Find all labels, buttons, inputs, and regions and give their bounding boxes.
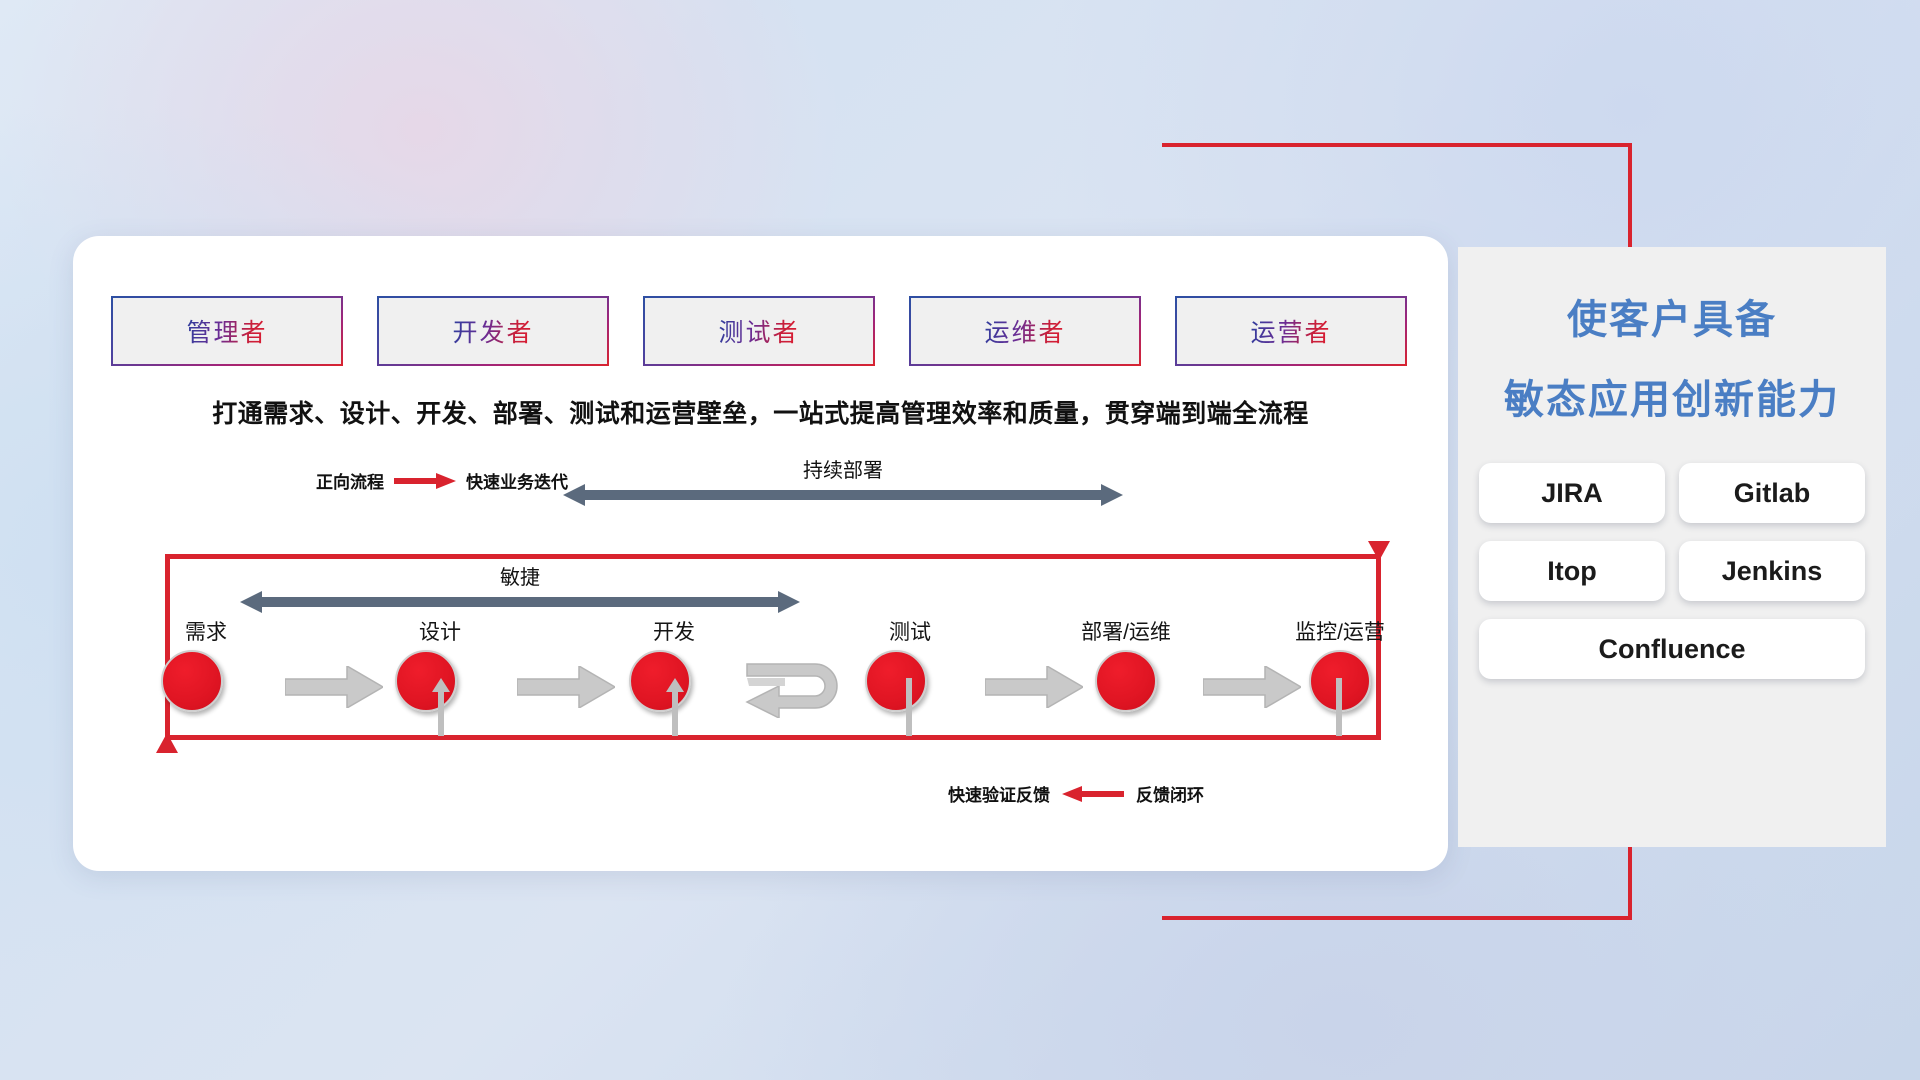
chevron-right-icon (517, 666, 615, 708)
right-panel-title-line1: 使客户具备 (1458, 287, 1886, 345)
role-box-operations[interactable]: 运营者 (1175, 296, 1407, 366)
pipeline-node-design[interactable]: 设计 (391, 616, 461, 712)
right-panel-title: 使客户具备 敏态应用创新能力 (1458, 287, 1886, 425)
legend-forward-right-label: 快速业务迭代 (466, 468, 568, 493)
right-tools-panel: 使客户具备 敏态应用创新能力 JIRA Gitlab Itop Jenkins … (1458, 247, 1886, 847)
tagline-text: 打通需求、设计、开发、部署、测试和运营壁垒，一站式提高管理效率和质量，贯穿端到端… (73, 394, 1448, 430)
pipeline-node-label: 测试 (889, 616, 931, 646)
role-label: 测试者 (718, 313, 799, 349)
role-box-tester[interactable]: 测试者 (643, 296, 875, 366)
role-label: 运营者 (1250, 313, 1331, 349)
red-arrow-right-icon (394, 473, 456, 489)
continuous-deploy-arrow: 持续部署 (563, 484, 1123, 506)
pipeline-node-label: 部署/运维 (1081, 616, 1171, 646)
node-circle (1095, 650, 1157, 712)
continuous-deploy-label: 持续部署 (563, 454, 1123, 483)
legend-feedback-right-label: 反馈闭环 (1136, 781, 1204, 806)
right-panel-title-line2: 敏态应用创新能力 (1458, 367, 1886, 425)
pipeline-node-label: 设计 (419, 616, 461, 646)
role-boxes-row: 管理者 开发者 测试者 运维者 运营者 (111, 296, 1407, 366)
tool-chip-list: JIRA Gitlab Itop Jenkins Confluence (1458, 463, 1886, 679)
legend-feedback-loop: 快速验证反馈 反馈闭环 (948, 781, 1204, 806)
node-circle (865, 650, 927, 712)
pipeline-node-label: 监控/运营 (1295, 616, 1385, 646)
agile-label: 敏捷 (240, 561, 800, 590)
role-label: 管理者 (186, 313, 267, 349)
pipeline-node-label: 开发 (653, 616, 695, 646)
pipeline-node-development[interactable]: 开发 (625, 616, 695, 712)
role-box-ops[interactable]: 运维者 (909, 296, 1141, 366)
double-headed-arrow-icon (563, 484, 1123, 506)
tool-chip-confluence[interactable]: Confluence (1479, 619, 1865, 679)
pipeline-node-label: 需求 (185, 616, 227, 646)
role-label: 开发者 (452, 313, 533, 349)
main-content-card: 管理者 开发者 测试者 运维者 运营者 打通需求、设计、开发、部署、测试和运营壁… (73, 236, 1448, 871)
pipeline-row: 需求 设计 开发 测试 部署/运维 监控/运营 (119, 616, 1403, 736)
legend-feedback-left-label: 快速验证反馈 (948, 781, 1050, 806)
feedback-up-connector-icon (432, 678, 450, 736)
tool-chip-gitlab[interactable]: Gitlab (1679, 463, 1865, 523)
tool-chip-itop[interactable]: Itop (1479, 541, 1665, 601)
tool-chip-jira[interactable]: JIRA (1479, 463, 1665, 523)
feedback-up-connector-icon (666, 678, 684, 736)
legend-forward-flow: 正向流程 快速业务迭代 (316, 468, 568, 493)
node-circle (161, 650, 223, 712)
pipeline-node-testing[interactable]: 测试 (861, 616, 931, 712)
chevron-right-icon (1203, 666, 1301, 708)
iteration-loop-icon (745, 656, 855, 718)
pipeline-node-requirements[interactable]: 需求 (157, 616, 227, 712)
role-box-developer[interactable]: 开发者 (377, 296, 609, 366)
slide-canvas: 管理者 开发者 测试者 运维者 运营者 打通需求、设计、开发、部署、测试和运营壁… (0, 0, 1920, 1080)
role-label: 运维者 (984, 313, 1065, 349)
chevron-right-icon (285, 666, 383, 708)
chevron-right-icon (985, 666, 1083, 708)
pipeline-node-deploy-ops[interactable]: 部署/运维 (1091, 616, 1161, 712)
feedback-down-connector-icon (1332, 678, 1346, 736)
tool-chip-jenkins[interactable]: Jenkins (1679, 541, 1865, 601)
feedback-down-connector-icon (902, 678, 916, 736)
double-headed-arrow-icon (240, 591, 800, 613)
legend-forward-left-label: 正向流程 (316, 468, 384, 493)
role-box-manager[interactable]: 管理者 (111, 296, 343, 366)
red-arrow-left-icon (1062, 786, 1124, 802)
agile-arrow: 敏捷 (240, 591, 800, 613)
